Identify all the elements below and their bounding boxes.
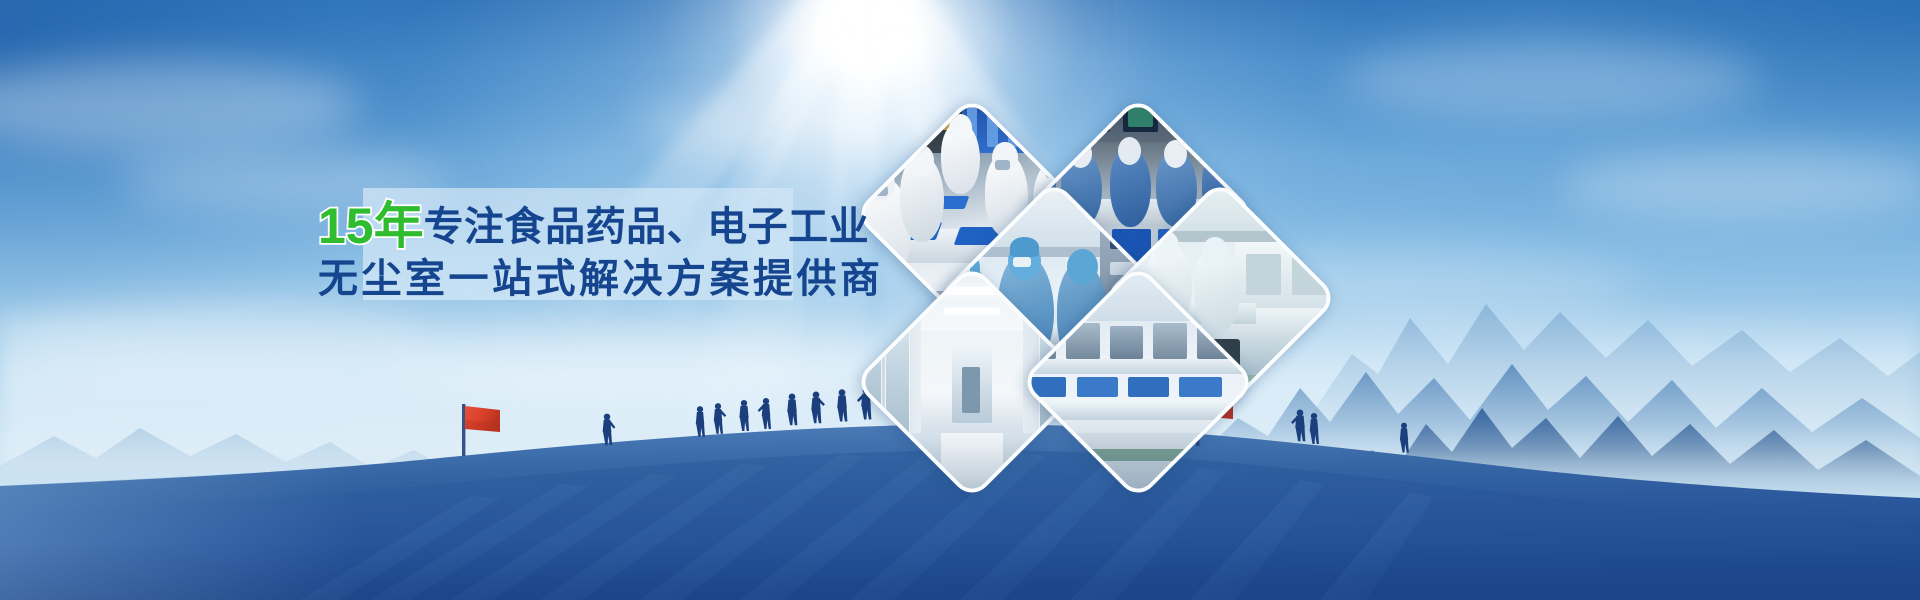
headline-line-2: 无尘室一站式解决方案提供商 <box>318 259 818 300</box>
diamond-photo-collage <box>836 92 1284 472</box>
headline-line-1: 15年专注食品药品、电子工业 <box>318 201 818 252</box>
years-badge: 15年 <box>318 198 424 254</box>
headline-line-1-rest: 专注食品药品、电子工业 <box>424 205 870 249</box>
footer-shade <box>0 540 1920 600</box>
headline-block: 15年专注食品药品、电子工业 无尘室一站式解决方案提供商 <box>318 201 818 300</box>
hero-banner: 15年专注食品药品、电子工业 无尘室一站式解决方案提供商 <box>0 0 1920 600</box>
